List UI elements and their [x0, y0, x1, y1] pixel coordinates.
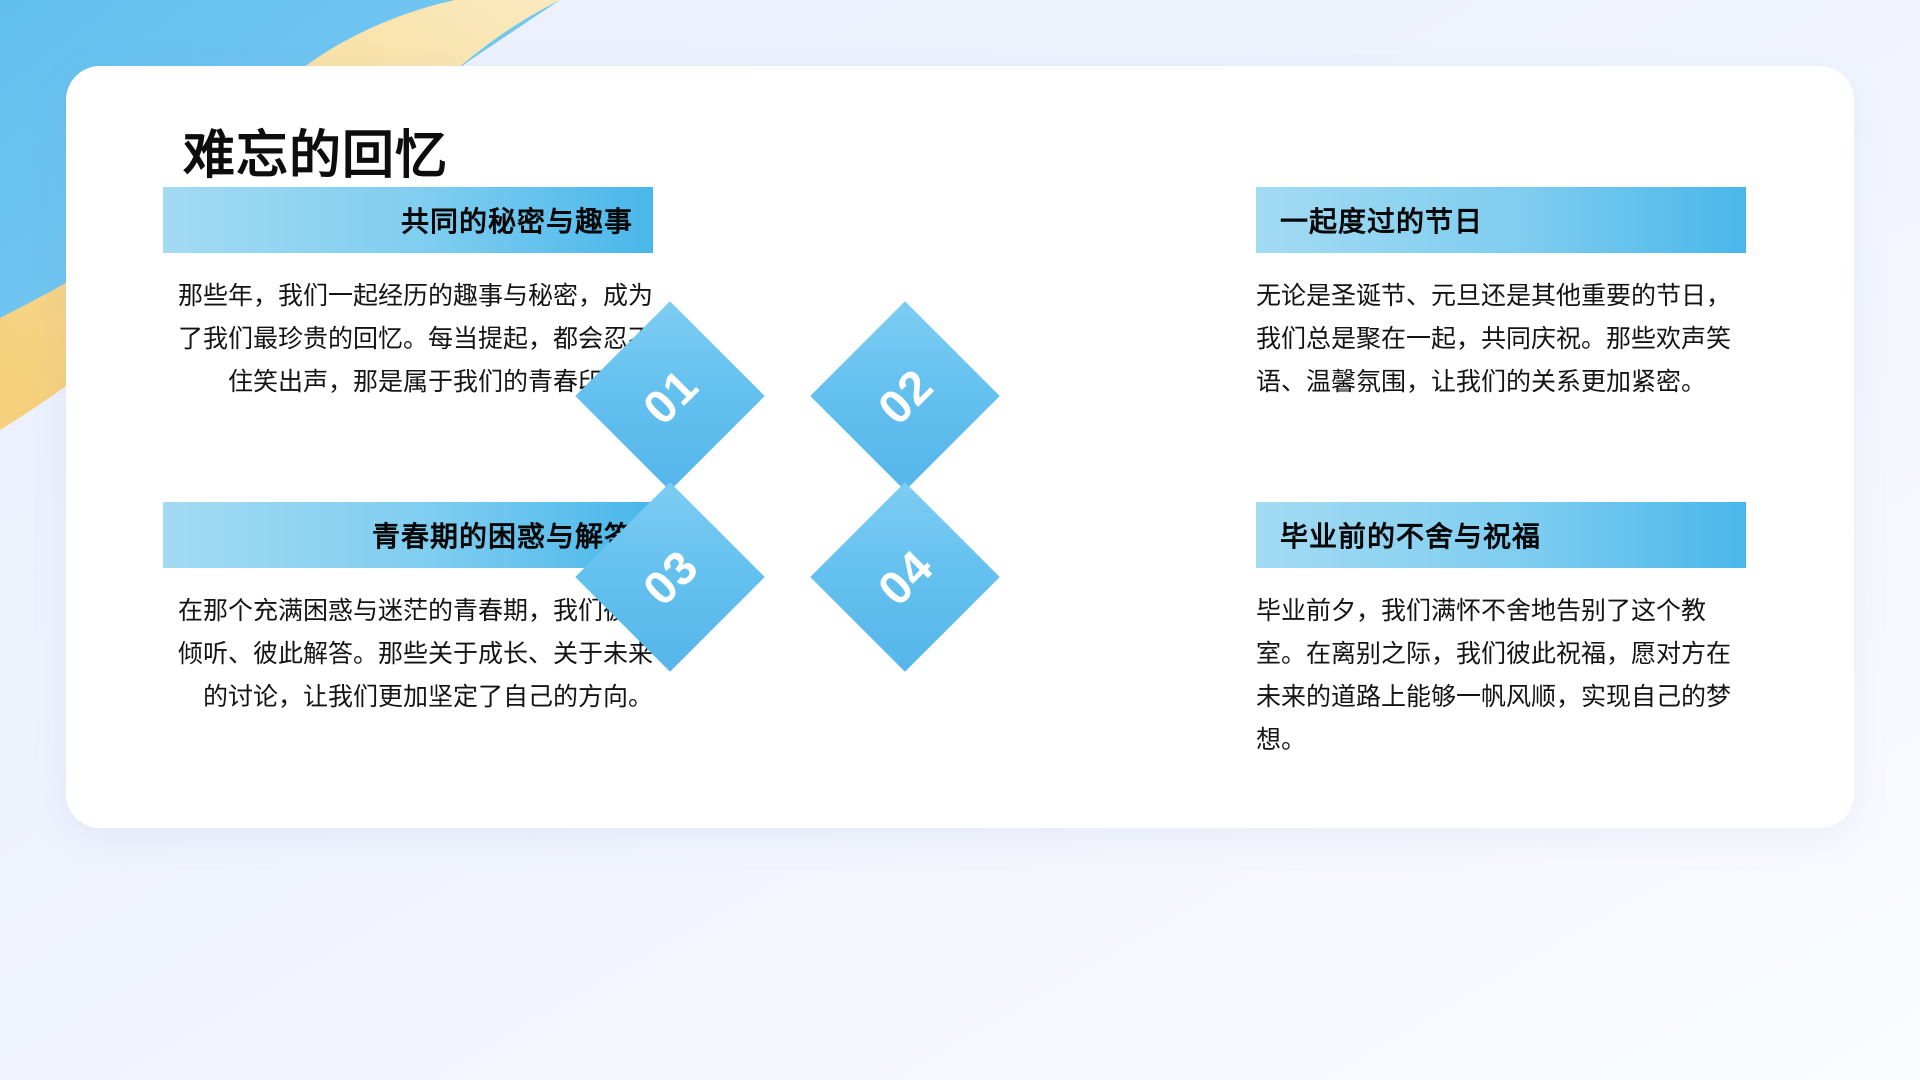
content-block-04: 毕业前的不舍与祝福 毕业前夕，我们满怀不舍地告别了这个教室。在离别之际，我们彼此… — [1256, 502, 1746, 787]
section-heading-bar-02: 一起度过的节日 — [1256, 187, 1746, 253]
section-body-text-02: 无论是圣诞节、元旦还是其他重要的节日，我们总是聚在一起，共同庆祝。那些欢声笑语、… — [1256, 275, 1746, 404]
section-body-text-03: 在那个充满困惑与迷茫的青春期，我们彼此倾听、彼此解答。那些关于成长、关于未来的讨… — [163, 590, 653, 719]
section-heading-bar-04: 毕业前的不舍与祝福 — [1256, 502, 1746, 568]
section-heading-text-04: 毕业前的不舍与祝福 — [1280, 515, 1541, 555]
content-block-02: 一起度过的节日 无论是圣诞节、元旦还是其他重要的节日，我们总是聚在一起，共同庆祝… — [1256, 187, 1746, 429]
section-heading-text-02: 一起度过的节日 — [1280, 200, 1483, 240]
section-heading-text-01: 共同的秘密与趣事 — [401, 200, 633, 240]
slide-root: 难忘的回忆 共同的秘密与趣事 那些年，我们一起经历的趣事与秘密，成为了我们最珍贵… — [0, 0, 1920, 1080]
section-heading-bar-01: 共同的秘密与趣事 — [163, 187, 653, 253]
section-body-text-04: 毕业前夕，我们满怀不舍地告别了这个教室。在离别之际，我们彼此祝福，愿对方在未来的… — [1256, 590, 1746, 762]
section-heading-bar-03: 青春期的困惑与解答 — [163, 502, 653, 568]
content-block-03: 青春期的困惑与解答 在那个充满困惑与迷茫的青春期，我们彼此倾听、彼此解答。那些关… — [163, 502, 653, 744]
content-card: 难忘的回忆 共同的秘密与趣事 那些年，我们一起经历的趣事与秘密，成为了我们最珍贵… — [66, 66, 1854, 828]
page-title: 难忘的回忆 — [183, 125, 448, 187]
section-body-text-01: 那些年，我们一起经历的趣事与秘密，成为了我们最珍贵的回忆。每当提起，都会忍不住笑… — [163, 275, 653, 404]
number-diamond-label-04: 04 — [810, 482, 1000, 672]
section-heading-text-03: 青春期的困惑与解答 — [372, 515, 633, 555]
number-diamond-label-02: 02 — [810, 301, 1000, 491]
